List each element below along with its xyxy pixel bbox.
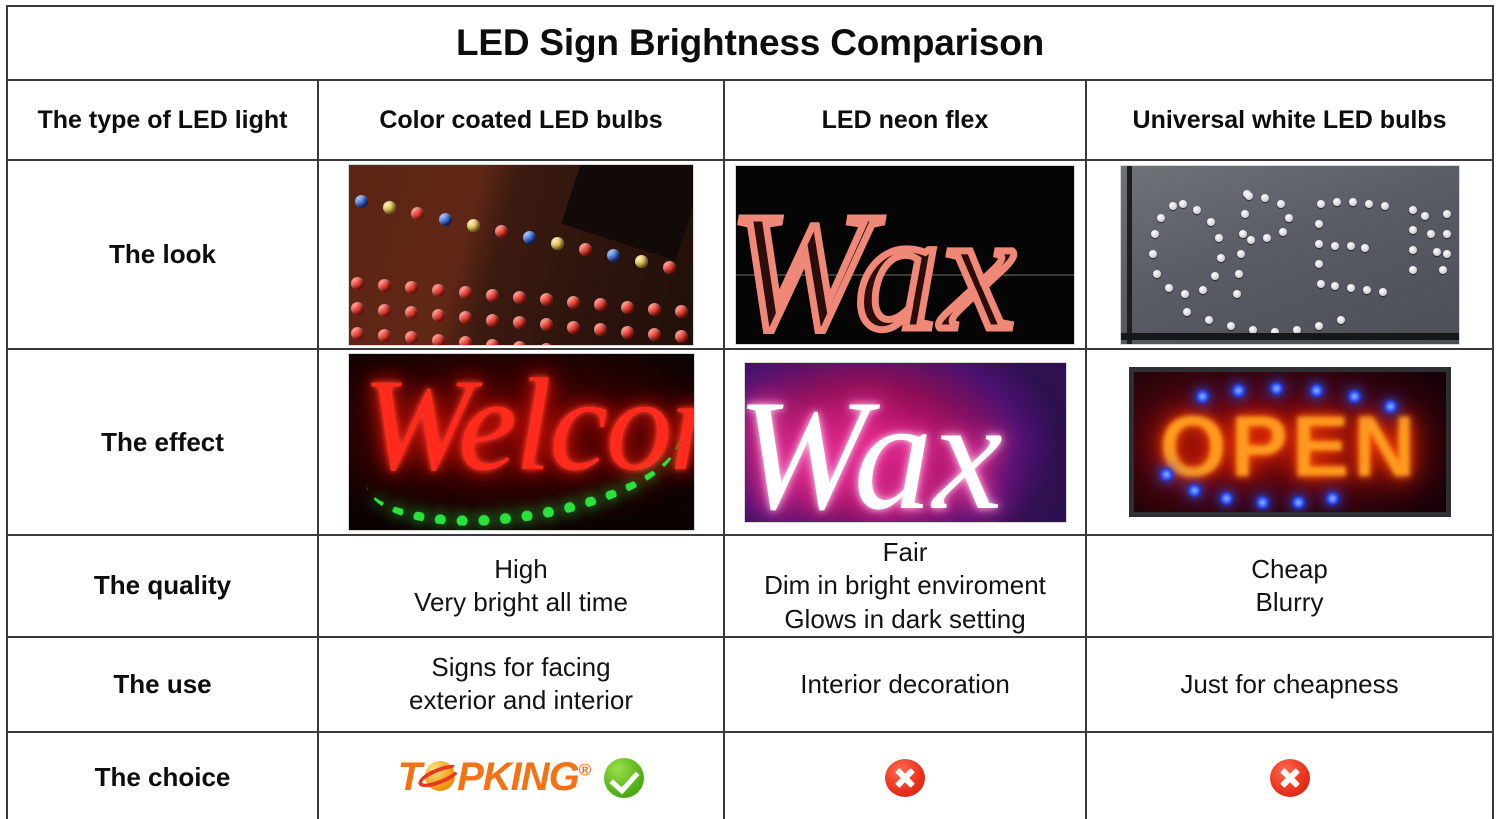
blue-led-dot — [1232, 384, 1245, 397]
white-led-dot — [1365, 200, 1373, 208]
column-header-label: The type of LED light — [8, 106, 317, 135]
white-led-dot — [1153, 270, 1161, 278]
white-led-dot — [1409, 206, 1417, 214]
white-led-dot — [1233, 290, 1241, 298]
led-bulb — [635, 255, 648, 268]
led-bulb — [467, 219, 480, 232]
white-led-dot — [1211, 272, 1219, 280]
universal-white-led-bulbs-unlit-photo — [1120, 165, 1460, 345]
white-led-dot — [1381, 202, 1389, 210]
table-row-look: The look Wax — [7, 160, 1493, 349]
cell-choice-color-coated: TPKING® — [318, 732, 724, 819]
white-led-dot — [1249, 326, 1257, 334]
white-led-dot — [1279, 228, 1287, 236]
led-bulb — [663, 261, 676, 274]
cell-quality-universal-white: CheapBlurry — [1086, 535, 1493, 637]
cell-choice-universal-white — [1086, 732, 1493, 819]
white-led-dot — [1179, 200, 1187, 208]
white-led-dot — [1293, 326, 1301, 334]
white-led-dot — [1207, 218, 1215, 226]
table-header-row: The type of LED light Color coated LED b… — [7, 80, 1493, 160]
column-header-neon-flex: LED neon flex — [724, 80, 1086, 160]
red-cross-icon — [1270, 759, 1310, 797]
led-bulb — [486, 314, 499, 327]
led-bulb — [459, 286, 472, 299]
blue-led-dot — [1160, 468, 1173, 481]
white-led-dot — [1317, 200, 1325, 208]
blue-led-dot — [1384, 400, 1397, 413]
white-led-dot — [1379, 288, 1387, 296]
cell-text: FairDim in bright enviromentGlows in dar… — [725, 536, 1085, 636]
blue-led-dot — [1310, 384, 1323, 397]
white-led-dot — [1181, 290, 1189, 298]
led-bulb — [405, 306, 418, 319]
topking-logo-text-lead: T — [398, 755, 421, 799]
cell-text-line: Signs for facing — [319, 651, 723, 684]
cell-text-line: High — [319, 553, 723, 586]
cell-text: Signs for facingexterior and interior — [319, 651, 723, 718]
cell-look-universal-white — [1086, 160, 1493, 349]
led-bulb — [540, 318, 553, 331]
led-bulb — [567, 321, 580, 334]
welcome-led-sign-lit-photo: Welcome — [348, 353, 695, 531]
led-bulb — [495, 225, 508, 238]
cell-quality-color-coated: HighVery bright all time — [318, 535, 724, 637]
white-led-dot — [1421, 212, 1429, 220]
table-title-row: LED Sign Brightness Comparison — [7, 6, 1493, 80]
led-bulb — [405, 331, 418, 344]
white-led-dot — [1409, 266, 1417, 274]
white-led-dot — [1349, 198, 1357, 206]
cell-text-line: Glows in dark setting — [725, 603, 1085, 636]
cell-text-line: Interior decoration — [725, 668, 1085, 701]
led-bulb — [513, 316, 526, 329]
white-led-dot — [1315, 240, 1323, 248]
row-label: The look — [8, 239, 317, 270]
led-bulb — [675, 305, 688, 318]
cell-text: Just for cheapness — [1087, 668, 1492, 701]
white-led-dot — [1247, 236, 1255, 244]
led-bulb — [351, 327, 364, 340]
white-led-dot — [1169, 202, 1177, 210]
led-bulb — [648, 303, 661, 316]
white-led-dot — [1363, 286, 1371, 294]
row-label: The quality — [8, 570, 317, 601]
blue-led-dot — [1196, 390, 1209, 403]
led-bulb — [607, 249, 620, 262]
white-led-dot — [1151, 230, 1159, 238]
open-led-sign-lit-photo: OPEN — [1129, 367, 1451, 517]
white-led-dot — [1315, 220, 1323, 228]
topking-planet-icon — [421, 759, 457, 795]
led-bulb — [411, 207, 424, 220]
led-bulb — [432, 334, 445, 346]
white-led-dot — [1227, 322, 1235, 330]
led-bulb — [540, 293, 553, 306]
led-neon-flex-lit-photo: Wax — [744, 362, 1067, 523]
white-led-dot — [1245, 192, 1253, 200]
white-led-dot — [1157, 214, 1165, 222]
table-row-quality: The quality HighVery bright all time Fai… — [7, 535, 1493, 637]
led-bulb — [432, 284, 445, 297]
white-led-dot — [1261, 194, 1269, 202]
column-header-type: The type of LED light — [7, 80, 318, 160]
cell-text: HighVery bright all time — [319, 553, 723, 620]
column-header-color-coated: Color coated LED bulbs — [318, 80, 724, 160]
white-led-dot — [1235, 270, 1243, 278]
row-label-cell: The use — [7, 637, 318, 732]
led-bulb — [648, 328, 661, 341]
cell-text-line: exterior and interior — [319, 684, 723, 717]
white-led-dot — [1239, 230, 1247, 238]
led-bulb — [378, 304, 391, 317]
white-led-dot — [1443, 250, 1451, 258]
white-led-dot — [1433, 248, 1441, 256]
blue-led-dot — [1348, 390, 1361, 403]
led-bulb — [351, 277, 364, 290]
white-led-dot — [1205, 316, 1213, 324]
registered-mark-icon: ® — [579, 761, 591, 780]
cell-use-neon-flex: Interior decoration — [724, 637, 1086, 732]
white-led-dot — [1285, 214, 1293, 222]
column-header-universal-white: Universal white LED bulbs — [1086, 80, 1493, 160]
led-bulb — [675, 330, 688, 343]
column-header-label: LED neon flex — [725, 106, 1085, 135]
cell-effect-color-coated: Welcome — [318, 349, 724, 535]
cell-text-line: Dim in bright enviroment — [725, 569, 1085, 602]
led-bulb — [378, 279, 391, 292]
row-label: The effect — [8, 427, 317, 458]
led-bulb — [513, 291, 526, 304]
cell-use-universal-white: Just for cheapness — [1086, 637, 1493, 732]
white-led-dot — [1263, 234, 1271, 242]
white-led-dot — [1347, 284, 1355, 292]
column-header-label: Universal white LED bulbs — [1087, 106, 1492, 135]
led-bulb — [513, 341, 526, 346]
led-bulb — [405, 281, 418, 294]
led-bulb — [523, 231, 536, 244]
white-led-dot — [1317, 280, 1325, 288]
led-bulb — [594, 323, 607, 336]
row-label-cell: The choice — [7, 732, 318, 819]
cell-quality-neon-flex: FairDim in bright enviromentGlows in dar… — [724, 535, 1086, 637]
led-bulb — [432, 309, 445, 322]
white-led-dot — [1165, 284, 1173, 292]
white-led-dot — [1215, 234, 1223, 242]
row-label-cell: The effect — [7, 349, 318, 535]
led-bulb — [621, 326, 634, 339]
white-led-dot — [1271, 328, 1279, 336]
color-coated-led-bulbs-unlit-photo — [348, 164, 694, 346]
led-bulb — [540, 343, 553, 345]
white-led-dot — [1241, 210, 1249, 218]
table-row-use: The use Signs for facingexterior and int… — [7, 637, 1493, 732]
white-led-dot — [1315, 260, 1323, 268]
row-label-cell: The quality — [7, 535, 318, 637]
row-label-cell: The look — [7, 160, 318, 349]
led-bulb — [378, 329, 391, 342]
comparison-sheet: LED Sign Brightness Comparison The type … — [0, 0, 1500, 819]
led-bulb — [439, 213, 452, 226]
white-led-dot — [1409, 246, 1417, 254]
blue-led-dot — [1256, 496, 1269, 509]
cell-look-neon-flex: Wax — [724, 160, 1086, 349]
table-title-cell: LED Sign Brightness Comparison — [7, 6, 1493, 80]
blue-led-dot — [1326, 492, 1339, 505]
white-led-dot — [1199, 286, 1207, 294]
neon-lit-sign-text: Wax — [744, 365, 1003, 523]
white-led-dot — [1333, 198, 1341, 206]
white-led-dot — [1237, 250, 1245, 258]
led-comparison-table: LED Sign Brightness Comparison The type … — [6, 5, 1494, 819]
cell-look-color-coated — [318, 160, 724, 349]
page-title: LED Sign Brightness Comparison — [8, 22, 1492, 64]
white-led-dot — [1409, 226, 1417, 234]
cell-effect-neon-flex: Wax — [724, 349, 1086, 535]
blue-led-dot — [1292, 496, 1305, 509]
open-sign-text: OPEN — [1134, 398, 1446, 497]
row-label: The use — [8, 669, 317, 700]
table-row-effect: The effect Welcome Wax — [7, 349, 1493, 535]
green-check-icon — [604, 758, 644, 798]
blue-led-dot — [1220, 492, 1233, 505]
cell-choice-neon-flex — [724, 732, 1086, 819]
cell-text: CheapBlurry — [1087, 553, 1492, 620]
white-led-dot — [1439, 266, 1447, 274]
cell-text-line: Fair — [725, 536, 1085, 569]
cell-effect-universal-white: OPEN — [1086, 349, 1493, 535]
white-led-dot — [1347, 242, 1355, 250]
cell-text-line: Just for cheapness — [1087, 668, 1492, 701]
column-header-label: Color coated LED bulbs — [319, 106, 723, 135]
topking-logo-text-tail: PKING — [457, 755, 579, 799]
blue-led-dot — [1270, 382, 1283, 395]
led-bulb — [551, 237, 564, 250]
blue-led-dot — [1188, 484, 1201, 497]
led-bulb — [459, 336, 472, 345]
table-row-choice: The choice TPKING® — [7, 732, 1493, 819]
neon-unlit-sign-text: Wax — [735, 176, 1016, 345]
white-led-dot — [1337, 316, 1345, 324]
cell-text: Interior decoration — [725, 668, 1085, 701]
led-bulb — [579, 243, 592, 256]
led-bulb — [355, 195, 368, 208]
led-bulb — [383, 201, 396, 214]
white-led-dot — [1183, 308, 1191, 316]
white-led-dot — [1427, 230, 1435, 238]
led-bulb — [459, 311, 472, 324]
white-led-dot — [1277, 200, 1285, 208]
white-led-dot — [1361, 244, 1369, 252]
cell-use-color-coated: Signs for facingexterior and interior — [318, 637, 724, 732]
led-neon-flex-unlit-photo: Wax — [735, 165, 1075, 345]
white-led-dot — [1443, 210, 1451, 218]
cell-text-line: Very bright all time — [319, 586, 723, 619]
topking-logo: TPKING® — [398, 755, 591, 800]
row-label: The choice — [8, 762, 317, 793]
led-bulb — [351, 302, 364, 315]
led-bulb — [621, 301, 634, 314]
white-led-dot — [1331, 242, 1339, 250]
white-led-dot — [1443, 230, 1451, 238]
white-led-dot — [1217, 254, 1225, 262]
led-bulb — [567, 296, 580, 309]
cell-text-line: Cheap — [1087, 553, 1492, 586]
red-cross-icon — [885, 759, 925, 797]
led-bulb — [594, 298, 607, 311]
white-led-dot — [1149, 250, 1157, 258]
white-led-dot — [1193, 206, 1201, 214]
cell-text-line: Blurry — [1087, 586, 1492, 619]
white-led-dot — [1315, 322, 1323, 330]
led-bulb — [486, 289, 499, 302]
white-led-dot — [1331, 282, 1339, 290]
led-bulb — [486, 339, 499, 346]
